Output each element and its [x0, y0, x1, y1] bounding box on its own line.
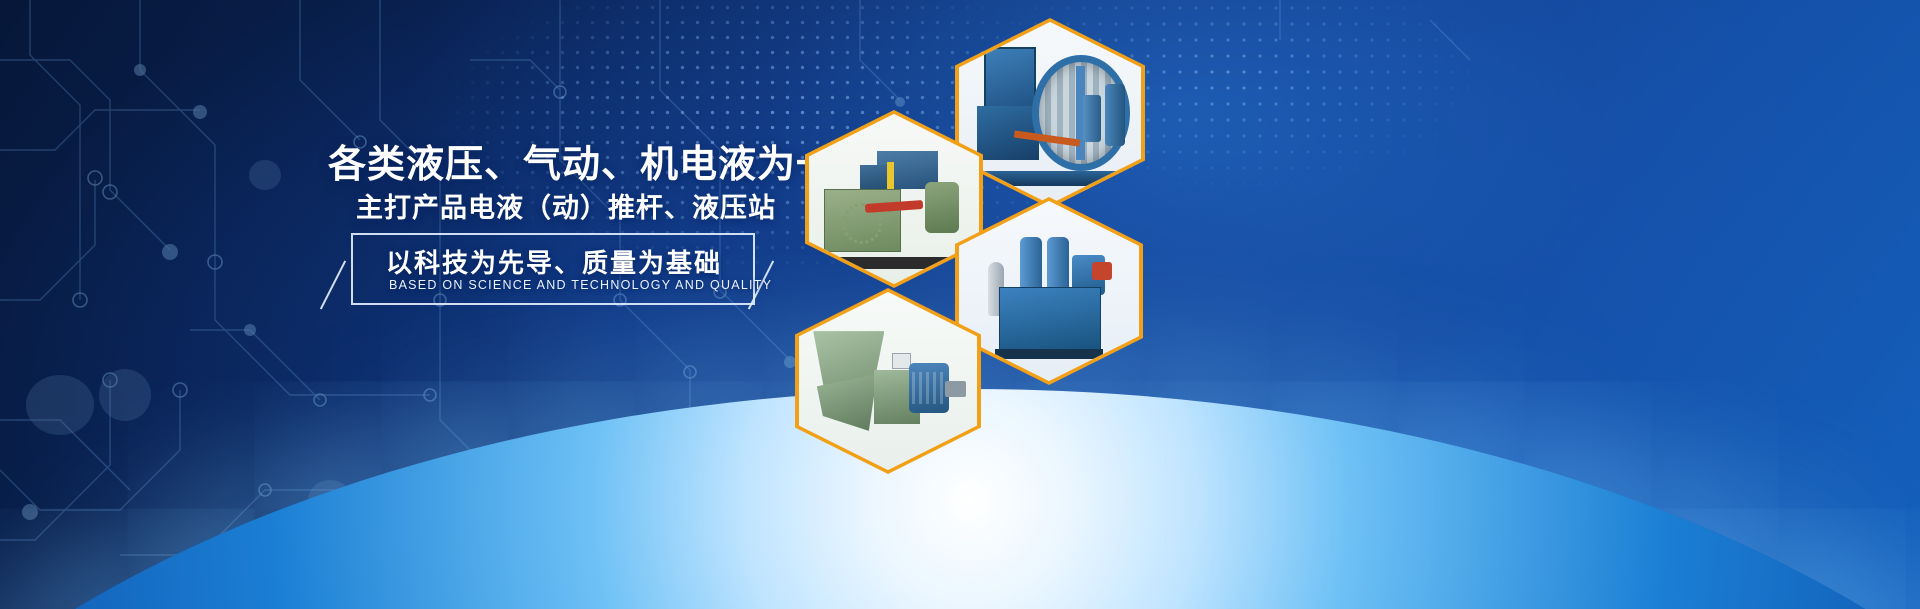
- photo-part: [1047, 237, 1069, 291]
- photo-part: [909, 363, 948, 413]
- photo-part: [1105, 84, 1125, 146]
- photo-part: [1020, 237, 1042, 291]
- photo-part: [892, 353, 912, 369]
- photo-part: [824, 189, 901, 252]
- slogan-chinese: 以科技为先导、质量为基础: [386, 243, 726, 280]
- slogan-accent-left: [320, 260, 346, 309]
- photo-part: [945, 381, 966, 397]
- photo-part: [999, 287, 1102, 350]
- photo-part: [995, 349, 1103, 360]
- hero-banner: 各类液压、气动、机电液为一体 主打产品电液（动）推杆、液压站 以科技为先导、质量…: [0, 0, 1920, 609]
- banner-subheadline: 主打产品电液（动）推杆、液压站: [356, 186, 776, 225]
- photo-part: [925, 182, 959, 233]
- photo-part: [1092, 262, 1112, 280]
- banner-text-block: 各类液压、气动、机电液为一体 主打产品电液（动）推杆、液压站 以科技为先导、质量…: [0, 0, 830, 609]
- photo-part: [1083, 95, 1101, 142]
- banner-headline: 各类液压、气动、机电液为一体: [328, 133, 778, 188]
- slogan-english: BASED ON SCIENCE AND TECHNOLOGY AND QUAL…: [389, 278, 749, 292]
